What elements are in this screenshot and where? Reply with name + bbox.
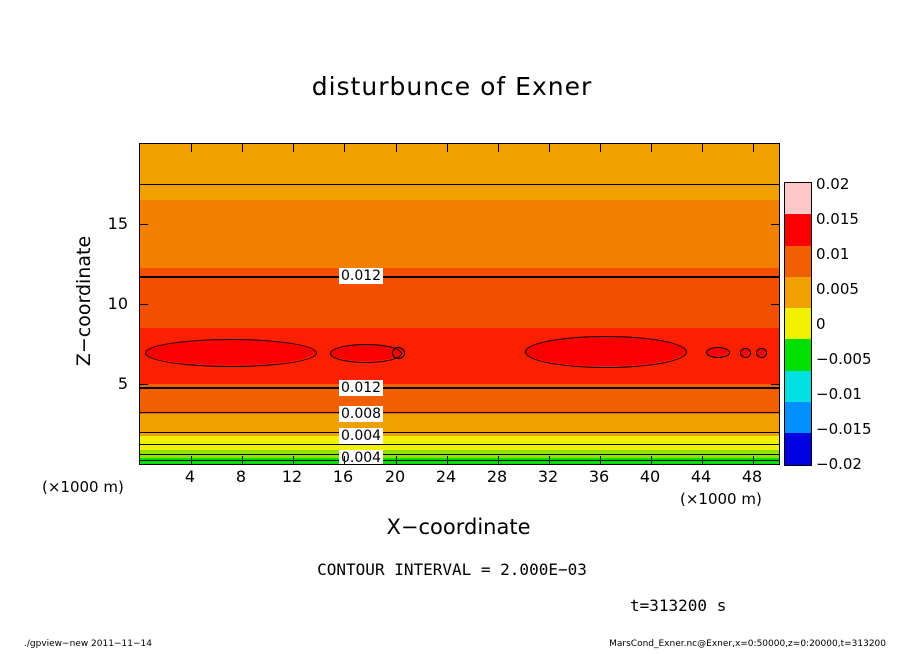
colorbar-tick-label: 0.005 [816, 280, 859, 298]
x-tick-label: 20 [375, 467, 415, 486]
x-axis-unit: (×1000 m) [680, 490, 762, 508]
contour-line-0.004 [140, 454, 779, 455]
band-0.010-top [140, 144, 779, 200]
x-tick-label: 48 [732, 467, 772, 486]
band-0.011 [140, 200, 779, 268]
colorbar [784, 182, 812, 466]
blob-outline-right [525, 336, 687, 368]
contour-line-0.006 [140, 444, 779, 445]
contour-label-2: 0.008 [339, 406, 383, 422]
contour-line-0.012-upper [140, 276, 779, 278]
x-tick-label: 4 [170, 467, 210, 486]
y-axis-title: Z−coordinate [73, 201, 95, 401]
colorbar-tick-label: −0.01 [816, 385, 862, 403]
x-tick-label: 40 [630, 467, 670, 486]
contour-line-0.002 [140, 460, 779, 461]
colorbar-tick-label: −0.02 [816, 455, 862, 473]
page-title: disturbunce of Exner [0, 72, 904, 101]
colorbar-cell-0.0125 [785, 246, 811, 277]
colorbar-cell--0.005 [785, 402, 811, 433]
blob-outline-small1 [392, 347, 405, 359]
colorbar-tick-label: 0.02 [816, 175, 849, 193]
colorbar-cell-0.005 [785, 339, 811, 370]
blob-outline-small4 [756, 348, 767, 358]
x-tick-label: 24 [426, 467, 466, 486]
contour-line-0.010 [140, 412, 779, 413]
colorbar-cell-0 [785, 371, 811, 402]
blob-outline-small2 [706, 347, 730, 358]
contour-plot: 0.012 0.012 0.008 0.004 0.004 [139, 143, 780, 465]
band-0.006 [140, 436, 779, 450]
colorbar-cell--0.01 [785, 433, 811, 464]
colorbar-cell--0.015 [785, 465, 811, 466]
x-tick-label: 36 [579, 467, 619, 486]
contour-label-3: 0.004 [339, 428, 383, 444]
y-axis-unit: (×1000 m) [42, 478, 124, 496]
blob-outline-small3 [740, 348, 751, 358]
contour-line-0.008 [140, 432, 779, 433]
contour-bands [140, 144, 779, 464]
colorbar-cell-0.01 [785, 277, 811, 308]
contour-label-4: 0.004 [339, 450, 383, 465]
colorbar-cell-0.0075 [785, 308, 811, 339]
footer-left-text: ./gpview−new 2011−11−14 [24, 639, 152, 649]
x-axis-title: X−coordinate [139, 515, 778, 539]
x-tick-label: 12 [272, 467, 312, 486]
x-tick-label: 8 [221, 467, 261, 486]
contour-line-upper [140, 184, 779, 185]
contour-interval-text: CONTOUR INTERVAL = 2.000E−03 [0, 560, 904, 579]
colorbar-tick-label: −0.015 [816, 420, 872, 438]
x-tick-label: 32 [528, 467, 568, 486]
x-tick-label: 16 [323, 467, 363, 486]
contour-label-1: 0.012 [339, 380, 383, 396]
band-0.002 [140, 458, 779, 464]
time-label: t=313200 s [630, 596, 726, 615]
contour-line-0.012-lower [140, 387, 779, 389]
colorbar-tick-label: 0.01 [816, 245, 849, 263]
colorbar-tick-label: −0.005 [816, 350, 872, 368]
colorbar-tick-label: 0 [816, 315, 826, 333]
contour-label-0: 0.012 [339, 268, 383, 284]
colorbar-cell-0.015 [785, 214, 811, 245]
x-tick-label: 44 [681, 467, 721, 486]
colorbar-cell-0.02 [785, 183, 811, 214]
blob-outline-left [145, 339, 317, 367]
x-tick-label: 28 [477, 467, 517, 486]
colorbar-tick-label: 0.015 [816, 210, 859, 228]
footer-right-text: MarsCond_Exner.nc@Exner,x=0:50000,z=0:20… [609, 639, 886, 649]
